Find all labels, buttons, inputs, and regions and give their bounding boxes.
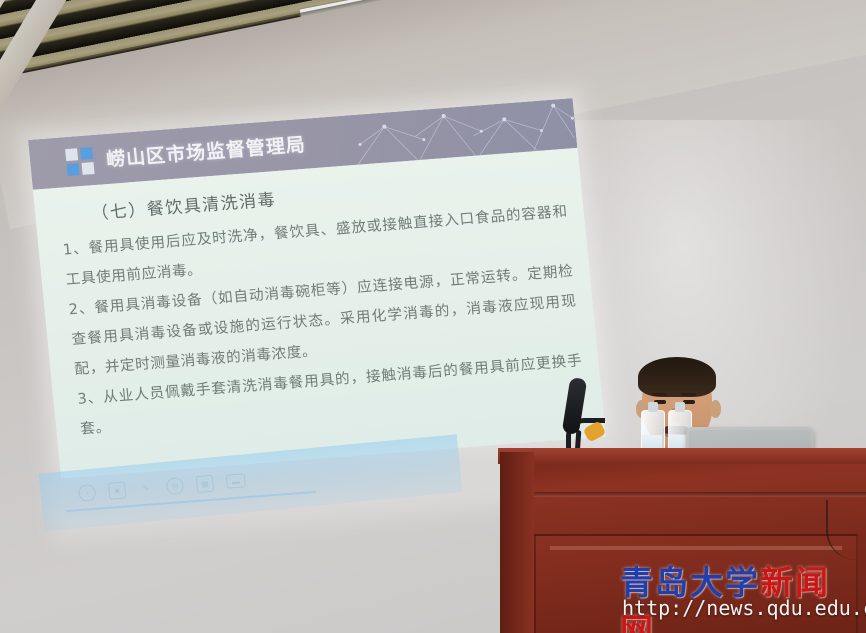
presentation-slide: 崂山区市场监督管理局 （七）餐饮具清洗消毒 1、餐用具使用后应及时洗净，餐饮具、… bbox=[28, 98, 606, 478]
grid-icon[interactable]: ▦ bbox=[196, 474, 215, 492]
hair bbox=[638, 357, 716, 397]
watermark-title: 青岛大学新闻网 bbox=[620, 556, 864, 633]
watermark-url: http://news.qdu.edu.cn bbox=[622, 596, 866, 620]
slide-header-title: 崂山区市场监督管理局 bbox=[105, 130, 307, 172]
bureau-logo-icon bbox=[65, 147, 95, 176]
eyebrow-right bbox=[681, 393, 696, 396]
prev-icon[interactable]: ‹ bbox=[78, 483, 97, 501]
ear-right bbox=[710, 400, 721, 418]
more-icon[interactable]: ▬ bbox=[226, 473, 246, 488]
podium-top-surface bbox=[498, 448, 866, 464]
pointer-icon[interactable]: ◎ bbox=[166, 477, 185, 495]
slide-section-title: （七）餐饮具清洗消毒 bbox=[90, 185, 277, 224]
podium-lip bbox=[500, 492, 866, 497]
stop-icon[interactable]: ■ bbox=[108, 481, 127, 499]
watermark: 青岛大学新闻网 http://news.qdu.edu.cn bbox=[614, 556, 864, 628]
pen-icon[interactable]: ✎ bbox=[138, 480, 154, 496]
presentation-photo-scene: 崂山区市场监督管理局 （七）餐饮具清洗消毒 1、餐用具使用后应及时洗净，餐饮具、… bbox=[0, 0, 866, 633]
podium-left-edge bbox=[500, 452, 534, 633]
slide-body: （七）餐饮具清洗消毒 1、餐用具使用后应及时洗净，餐饮具、盛放或接触直接入口食品… bbox=[33, 148, 606, 479]
eyebrow-left bbox=[652, 393, 667, 396]
